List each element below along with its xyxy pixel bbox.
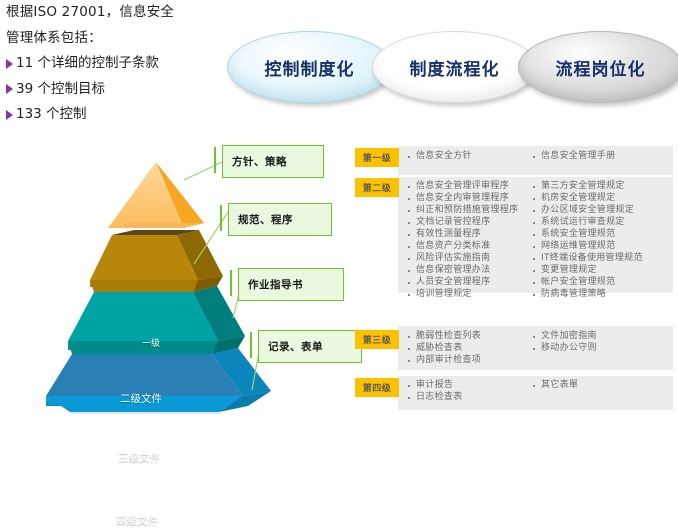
tier-1-right-list: 信息安全管理手册 <box>533 151 615 163</box>
callout-tick-2 <box>220 205 222 231</box>
list-item-label: 威胁检查表 <box>416 343 463 354</box>
list-item-label: 内部审计检查项 <box>416 355 481 366</box>
list-item: 其它表單 <box>533 380 578 391</box>
list-item: 有效性测量程序 <box>408 229 518 240</box>
intro-line-2: 管理体系包括： <box>6 32 226 46</box>
list-item-label: 防病毒管理策略 <box>541 289 606 300</box>
list-item-label: 系统试运行审查规定 <box>541 217 625 228</box>
intro-line-1: 根据ISO 27001，信息安全 <box>6 6 226 20</box>
list-item-label: 脆弱性检查列表 <box>416 331 481 342</box>
list-item: 机房安全管理规定 <box>533 193 643 204</box>
tier-4-left-list: 审计报告日志检查表 <box>408 380 463 404</box>
list-item-label: 人员安全管理程序 <box>416 277 490 288</box>
list-item-label: 第三方安全管理规定 <box>541 181 625 192</box>
square-bullet-icon <box>533 270 535 272</box>
list-item: 信息资产分类标准 <box>408 241 518 252</box>
list-item-label: 变更管理规定 <box>541 265 597 276</box>
tier-4-badge: 第四级 <box>355 378 399 397</box>
list-item-label: 系统安全管理规范 <box>541 229 615 240</box>
list-item-label: 办公区域安全管理规定 <box>541 205 634 216</box>
list-item-label: 信息安全方针 <box>416 151 472 162</box>
square-bullet-icon <box>533 385 535 387</box>
square-bullet-icon <box>408 156 410 158</box>
list-item: 防病毒管理策略 <box>533 289 643 300</box>
tier-2-right-list: 第三方安全管理规定机房安全管理规定办公区域安全管理规定系统试运行审查规定系统安全… <box>533 181 643 301</box>
list-item: 日志检查表 <box>408 392 463 403</box>
square-bullet-icon <box>533 258 535 260</box>
square-bullet-icon <box>533 294 535 296</box>
list-item-label: 文档记录管控程序 <box>416 217 490 228</box>
square-bullet-icon <box>533 210 535 212</box>
ellipse-process-postization: 流程岗位化 <box>518 31 678 103</box>
list-item: 培训管理规定 <box>408 289 518 300</box>
list-item-label: 文件加密指南 <box>541 331 597 342</box>
square-bullet-icon <box>408 397 410 399</box>
pyramid-level-2-front <box>90 280 198 292</box>
square-bullet-icon <box>408 210 410 212</box>
pyramid-level-3-label: 三级文件 <box>118 450 160 465</box>
list-item-label: 风险评估实施指南 <box>416 253 490 264</box>
square-bullet-icon <box>533 222 535 224</box>
list-item: IT终端设备使用管理规范 <box>533 253 643 264</box>
list-item: 审计报告 <box>408 380 463 391</box>
list-item-label: 信息安全管理手册 <box>541 151 615 162</box>
ellipse-control-systemization: 控制制度化 <box>227 31 392 103</box>
square-bullet-icon <box>533 198 535 200</box>
list-item: 第三方安全管理规定 <box>533 181 643 192</box>
tier-2-left-list: 信息安全管理评审程序信息安全内审管理程序纠正和预防措施管理程序文档记录管控程序有… <box>408 181 518 301</box>
callout-tick-3 <box>230 270 232 296</box>
list-item-label: 审计报告 <box>416 380 453 391</box>
pyramid-level-3-front <box>68 341 218 354</box>
intro-text-block: 根据ISO 27001，信息安全 管理体系包括： 11 个详细的控制子条款 39… <box>6 6 226 134</box>
square-bullet-icon <box>408 198 410 200</box>
list-item: 网络运维管理规范 <box>533 241 643 252</box>
list-item: 威胁检查表 <box>408 343 481 354</box>
triangle-bullet-icon <box>6 84 13 94</box>
tier-2-badge: 第二级 <box>355 178 399 197</box>
triangle-bullet-icon <box>6 59 13 69</box>
square-bullet-icon <box>408 270 410 272</box>
list-item-label: 网络运维管理规范 <box>541 241 615 252</box>
tier-3-badge: 第三级 <box>355 330 399 349</box>
list-item: 信息安全内审管理程序 <box>408 193 518 204</box>
square-bullet-icon <box>533 282 535 284</box>
list-item: 帐户安全管理规范 <box>533 277 643 288</box>
pyramid-level-4-top <box>46 354 243 396</box>
list-item: 脆弱性检查列表 <box>408 331 481 342</box>
square-bullet-icon <box>408 222 410 224</box>
list-item-label: 有效性测量程序 <box>416 229 481 240</box>
leader-line-1 <box>184 162 222 180</box>
square-bullet-icon <box>408 246 410 248</box>
list-item-label: 移动办公守则 <box>541 343 597 354</box>
list-item: 信息保密管理办法 <box>408 265 518 276</box>
list-item: 风险评估实施指南 <box>408 253 518 264</box>
pyramid-level-3-top <box>68 292 218 341</box>
square-bullet-icon <box>408 186 410 188</box>
tier-3-left-list: 脆弱性检查列表威胁检查表内部审计检查项 <box>408 331 481 367</box>
list-item: 办公区域安全管理规定 <box>533 205 643 216</box>
callout-policy-strategy: 方针、策略 <box>222 145 324 178</box>
square-bullet-icon <box>533 156 535 158</box>
pyramid-level-4-front <box>46 396 243 412</box>
callout-tick-1 <box>214 147 216 173</box>
callout-record-form: 记录、表单 <box>258 330 362 363</box>
tier-1-left-list: 信息安全方针 <box>408 151 472 163</box>
tier-3-right-list: 文件加密指南移动办公守则 <box>533 331 597 355</box>
intro-bullet-3: 133 个控制 <box>6 108 226 122</box>
square-bullet-icon <box>533 348 535 350</box>
list-item-label: 信息资产分类标准 <box>416 241 490 252</box>
intro-bullet-2-label: 39 个控制目标 <box>16 83 105 97</box>
intro-bullet-3-label: 133 个控制 <box>16 108 87 122</box>
intro-bullet-1: 11 个详细的控制子条款 <box>6 57 226 71</box>
square-bullet-icon <box>408 234 410 236</box>
callout-tick-4 <box>250 332 252 358</box>
list-item: 文档记录管控程序 <box>408 217 518 228</box>
intro-bullet-1-label: 11 个详细的控制子条款 <box>16 57 159 71</box>
list-item-label: IT终端设备使用管理规范 <box>541 253 643 264</box>
list-item-label: 信息安全管理评审程序 <box>416 181 509 192</box>
square-bullet-icon <box>408 294 410 296</box>
list-item-label: 培训管理规定 <box>416 289 472 300</box>
square-bullet-icon <box>533 234 535 236</box>
slide-canvas: 根据ISO 27001，信息安全 管理体系包括： 11 个详细的控制子条款 39… <box>0 0 678 414</box>
list-item-label: 帐户安全管理规范 <box>541 277 615 288</box>
list-item: 信息安全方针 <box>408 151 472 162</box>
callout-spec-procedure: 规范、程序 <box>228 203 332 236</box>
list-item-label: 信息安全内审管理程序 <box>416 193 509 204</box>
list-item: 信息安全管理手册 <box>533 151 615 162</box>
square-bullet-icon <box>408 258 410 260</box>
list-item-label: 机房安全管理规定 <box>541 193 615 204</box>
callout-work-instruction: 作业指导书 <box>238 268 344 301</box>
pyramid-level-4-label: 四级文件 <box>116 513 158 528</box>
list-item: 变更管理规定 <box>533 265 643 276</box>
list-item: 人员安全管理程序 <box>408 277 518 288</box>
square-bullet-icon <box>408 385 410 387</box>
list-item: 内部审计检查项 <box>408 355 481 366</box>
square-bullet-icon <box>408 336 410 338</box>
square-bullet-icon <box>533 336 535 338</box>
square-bullet-icon <box>533 246 535 248</box>
list-item: 纠正和预防措施管理程序 <box>408 205 518 216</box>
square-bullet-icon <box>408 360 410 362</box>
triangle-bullet-icon <box>6 110 13 120</box>
list-item: 系统试运行审查规定 <box>533 217 643 228</box>
list-item: 移动办公守则 <box>533 343 597 354</box>
list-item-label: 日志检查表 <box>416 392 463 403</box>
list-item-label: 纠正和预防措施管理程序 <box>416 205 518 216</box>
tier-4-right-list: 其它表單 <box>533 380 578 392</box>
list-item: 系统安全管理规范 <box>533 229 643 240</box>
ellipse-system-processization: 制度流程化 <box>372 31 537 103</box>
square-bullet-icon <box>408 348 410 350</box>
square-bullet-icon <box>533 186 535 188</box>
intro-bullet-2: 39 个控制目标 <box>6 83 226 97</box>
list-item-label: 其它表單 <box>541 380 578 391</box>
tier-1-badge: 第一级 <box>355 148 399 167</box>
list-item: 信息安全管理评审程序 <box>408 181 518 192</box>
list-item: 文件加密指南 <box>533 331 597 342</box>
square-bullet-icon <box>408 282 410 284</box>
list-item-label: 信息保密管理办法 <box>416 265 490 276</box>
